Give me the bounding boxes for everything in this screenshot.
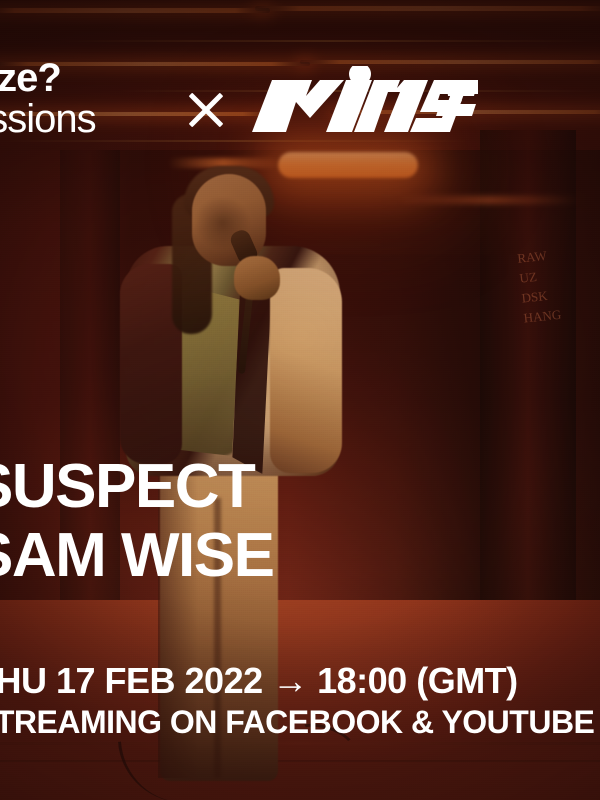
event-stream-info: STREAMING ON FACEBOOK & YOUTUBE [0, 702, 594, 742]
cross-separator-icon [184, 88, 228, 132]
event-poster: RAWUZDSKHANG [0, 0, 600, 800]
event-details: THU 17 FEB 2022 → 18:00 (GMT) STREAMING … [0, 660, 594, 742]
artist-name-2: SAM WISE [0, 521, 273, 590]
rinse-fm-logo [250, 66, 478, 136]
artist-names: SUSPECT SAM WISE [0, 452, 273, 591]
event-datetime: THU 17 FEB 2022 → 18:00 (GMT) [0, 660, 594, 702]
brand-lockup: Daze? sessions [0, 58, 96, 140]
brand-line-1: Daze? [0, 58, 96, 99]
artist-name-1: SUSPECT [0, 452, 273, 521]
brand-line-2: sessions [0, 99, 96, 140]
